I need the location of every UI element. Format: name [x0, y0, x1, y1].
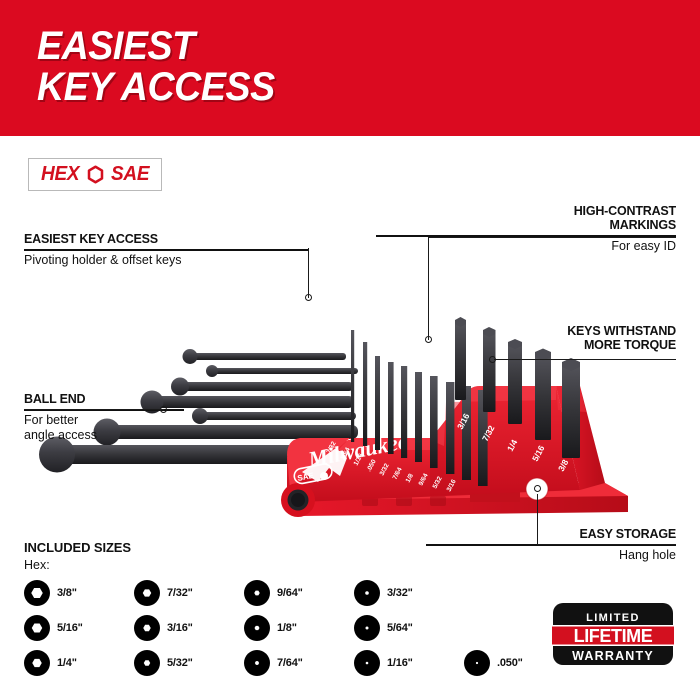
leader-line-keys-withstand [494, 359, 676, 360]
callout-ball-end: BALL END For better angle access [24, 392, 184, 443]
size-item-label: 1/4" [57, 657, 77, 669]
size-item-label: 9/64" [277, 587, 303, 599]
hex-size-icon [24, 615, 50, 641]
hex-key-shaft [192, 408, 356, 424]
callout-easiest-key-access-title: EASIEST KEY ACCESS [24, 232, 309, 246]
size-item: 5/16" [24, 614, 134, 642]
included-sizes-section: INCLUDED SIZES Hex: 3/8"7/32"9/64"3/32"5… [24, 540, 544, 677]
warranty-top-label: LIMITED [586, 612, 640, 624]
size-item-label: 1/16" [387, 657, 413, 669]
size-item: 9/64" [244, 579, 354, 607]
leader-dot-easy-storage [534, 485, 541, 492]
included-sizes-subtitle: Hex: [24, 558, 544, 572]
hexagon-outline-icon [86, 165, 105, 184]
warranty-bottom-label: WARRANTY [572, 649, 654, 663]
size-item-label: 7/32" [167, 587, 193, 599]
hex-size-icon [244, 615, 270, 641]
size-item: 1/4" [24, 649, 134, 677]
callout-keys-withstand-more-torque: KEYS WITHSTAND MORE TORQUE [376, 324, 676, 352]
callout-high-contrast-markings-title: HIGH-CONTRAST MARKINGS [376, 204, 676, 232]
pivot-hub [281, 483, 315, 517]
size-item: 5/32" [134, 649, 244, 677]
hex-sae-badge-right-label: SAE [111, 163, 149, 186]
hex-key-shaft [183, 349, 347, 364]
hex-key-shaft [206, 365, 358, 377]
lifetime-warranty-badge: LIMITED LIFETIME WARRANTY [548, 598, 678, 670]
leader-line-easy-storage-h [537, 544, 676, 545]
leader-dot-ball-end [160, 406, 167, 413]
hex-size-icon [134, 615, 160, 641]
included-sizes-grid: 3/8"7/32"9/64"3/32"5/16"3/16"1/8"5/64"1/… [24, 579, 544, 677]
leader-dot-easiest-key-access [305, 294, 312, 301]
size-item: 3/16" [134, 614, 244, 642]
page-title: EASIEST KEY ACCESS [37, 26, 275, 108]
hex-size-icon [244, 580, 270, 606]
callout-easiest-key-access-subtitle: Pivoting holder & offset keys [24, 253, 309, 268]
hex-size-icon [134, 580, 160, 606]
size-item-label: 7/64" [277, 657, 303, 669]
hex-size-icon [24, 650, 50, 676]
callout-keys-withstand-more-torque-title: KEYS WITHSTAND MORE TORQUE [376, 324, 676, 352]
leader-line-easiest-key-access [308, 248, 309, 298]
size-item-label: 1/8" [277, 622, 297, 634]
infographic-page: EASIEST KEY ACCESS HEX SAE [0, 0, 700, 700]
size-item: 3/8" [24, 579, 134, 607]
size-item: 1/8" [244, 614, 354, 642]
hex-sae-badge-left-label: HEX [41, 163, 79, 186]
size-item-label: .050" [497, 657, 523, 669]
callout-easy-storage-title: EASY STORAGE [426, 527, 676, 541]
size-item-label: 5/64" [387, 622, 413, 634]
callout-ball-end-title: BALL END [24, 392, 184, 406]
size-item-label: 3/32" [387, 587, 413, 599]
size-item-label: 3/8" [57, 587, 77, 599]
hex-size-icon [134, 650, 160, 676]
included-sizes-title: INCLUDED SIZES [24, 540, 544, 555]
hex-key-shaft [171, 378, 353, 396]
hex-size-icon [244, 650, 270, 676]
hex-size-icon [464, 650, 490, 676]
size-item: 7/32" [134, 579, 244, 607]
hex-size-icon [354, 580, 380, 606]
header-banner: EASIEST KEY ACCESS [0, 0, 700, 136]
size-item-label: 5/32" [167, 657, 193, 669]
leader-line-high-contrast-h [428, 237, 676, 238]
hex-size-icon [354, 615, 380, 641]
size-item: 7/64" [244, 649, 354, 677]
warranty-main-label: LIFETIME [574, 626, 653, 646]
leader-dot-keys-withstand [489, 356, 496, 363]
callout-high-contrast-markings: HIGH-CONTRAST MARKINGS For easy ID [376, 204, 676, 254]
size-item-label: 3/16" [167, 622, 193, 634]
callout-rule [24, 249, 309, 251]
size-item: 1/16" [354, 649, 464, 677]
hex-size-icon [24, 580, 50, 606]
leader-line-easy-storage-v [537, 494, 538, 545]
callout-ball-end-subtitle: For better angle access [24, 413, 184, 443]
size-item-label: 5/16" [57, 622, 83, 634]
callout-high-contrast-markings-subtitle: For easy ID [376, 239, 676, 254]
hex-sae-badge: HEX SAE [28, 158, 162, 191]
warranty-badge-svg: LIMITED LIFETIME WARRANTY [548, 598, 678, 670]
callout-easiest-key-access: EASIEST KEY ACCESS Pivoting holder & off… [24, 232, 309, 268]
leader-line-ball-end [24, 409, 164, 410]
hex-size-icon [354, 650, 380, 676]
size-item: 3/32" [354, 579, 464, 607]
size-item: 5/64" [354, 614, 464, 642]
